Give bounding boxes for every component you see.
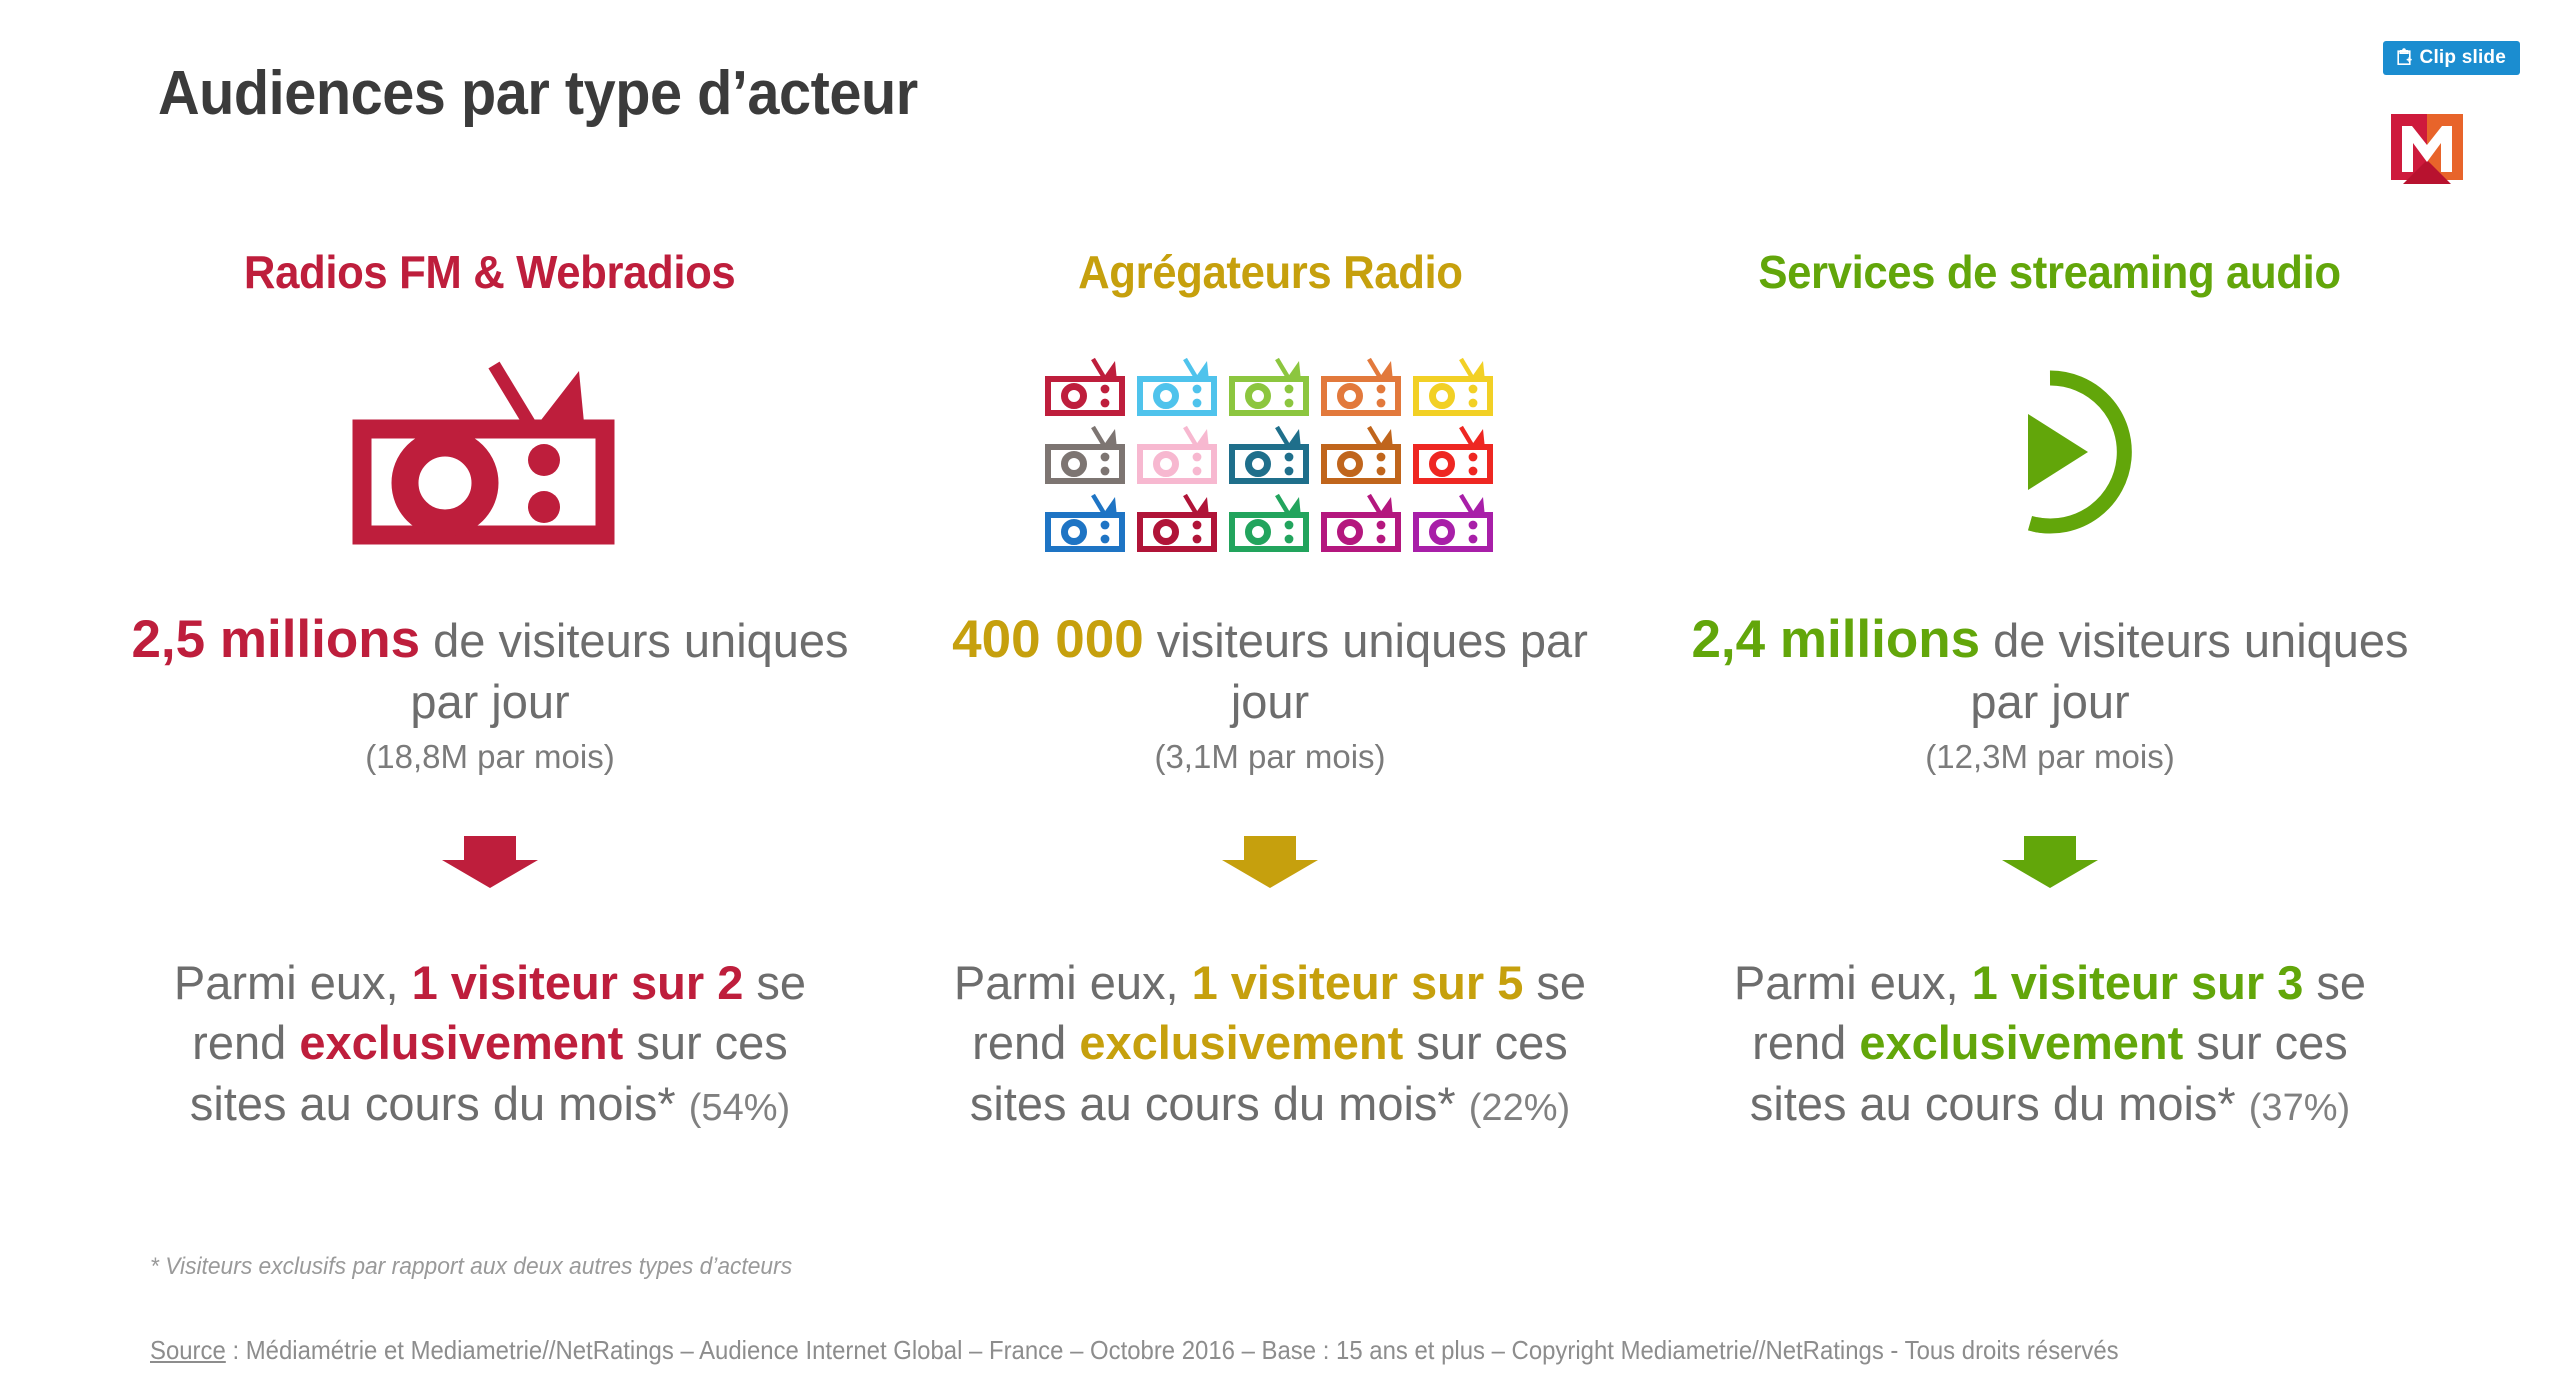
radio-grid-icon <box>1043 355 1497 555</box>
mini-radio-icon <box>1319 491 1405 555</box>
column-note: Parmi eux, 1 visiteur sur 5 se rend excl… <box>920 953 1620 1133</box>
mini-radio-icon <box>1043 355 1129 419</box>
source-text: : Médiamétrie et Mediametrie//NetRatings… <box>226 1335 2119 1365</box>
note-strong-ratio: 1 visiteur sur 2 <box>412 956 744 1009</box>
mini-radio-icon <box>1227 355 1313 419</box>
mini-radio-icon <box>1135 423 1221 487</box>
column-note: Parmi eux, 1 visiteur sur 3 se rend excl… <box>1700 953 2400 1133</box>
stat-line: 2,4 millions de visiteurs uniques par jo… <box>1690 608 2410 775</box>
column-icon <box>1043 347 1497 562</box>
mini-radio-icon <box>1043 491 1129 555</box>
mini-radio-icon <box>1319 355 1405 419</box>
clipboard-plus-icon <box>2395 48 2413 67</box>
source-line: Source : Médiamétrie et Mediametrie//Net… <box>150 1335 2119 1366</box>
stat-line: 2,5 millions de visiteurs uniques par jo… <box>130 608 850 775</box>
page-title: Audiences par type d’acteur <box>158 58 918 129</box>
column-icon <box>1960 347 2140 562</box>
note-percent: (22%) <box>1469 1087 1570 1129</box>
column-note: Parmi eux, 1 visiteur sur 2 se rend excl… <box>140 953 840 1133</box>
column-heading: Agrégateurs Radio <box>1078 245 1462 299</box>
arrow-down-icon <box>1996 831 2104 891</box>
columns-container: Radios FM & Webradios 2,5 millions de vi… <box>100 245 2440 1134</box>
note-percent: (37%) <box>2249 1087 2350 1129</box>
note-lead: Parmi eux, <box>174 956 412 1009</box>
stat-value: 2,5 millions <box>131 610 420 669</box>
stat-sub: (12,3M par mois) <box>1690 739 2410 775</box>
slide-canvas: Clip slide Audiences par type d’acteur R… <box>0 0 2553 1381</box>
note-lead: Parmi eux, <box>954 956 1192 1009</box>
column-heading: Services de streaming audio <box>1759 245 2341 299</box>
column-icon <box>348 347 633 562</box>
note-strong-exclusively: exclusivement <box>1859 1016 2183 1069</box>
stat-text: visiteurs uniques par jour <box>1144 614 1588 728</box>
mini-radio-icon <box>1135 355 1221 419</box>
column-heading: Radios FM & Webradios <box>244 245 735 299</box>
mini-radio-icon <box>1135 491 1221 555</box>
stat-text: de visiteurs uniques par jour <box>410 614 848 728</box>
source-label: Source <box>150 1335 226 1365</box>
stat-text: de visiteurs uniques par jour <box>1970 614 2408 728</box>
column-radios-fm-webradios: Radios FM & Webradios 2,5 millions de vi… <box>100 245 880 1134</box>
note-strong-ratio: 1 visiteur sur 3 <box>1972 956 2304 1009</box>
arrow-down-icon <box>436 831 544 891</box>
note-strong-exclusively: exclusivement <box>1079 1016 1403 1069</box>
column-services-streaming-audio: Services de streaming audio 2,4 millions… <box>1660 245 2440 1134</box>
mini-radio-icon <box>1411 491 1497 555</box>
clip-slide-button[interactable]: Clip slide <box>2383 41 2520 75</box>
footnote-exclusive-visitors: * Visiteurs exclusifs par rapport aux de… <box>150 1253 792 1281</box>
stat-sub: (3,1M par mois) <box>910 739 1630 775</box>
mediametrie-m-logo <box>2389 110 2465 186</box>
mini-radio-icon <box>1319 423 1405 487</box>
note-strong-exclusively: exclusivement <box>299 1016 623 1069</box>
note-percent: (54%) <box>689 1087 790 1129</box>
mini-radio-icon <box>1411 355 1497 419</box>
play-circle-icon <box>1960 362 2140 547</box>
radio-icon <box>348 357 633 552</box>
column-agregateurs-radio: Agrégateurs Radio 400 000 visiteurs uniq… <box>880 245 1660 1134</box>
stat-sub: (18,8M par mois) <box>130 739 850 775</box>
stat-value: 400 000 <box>952 610 1144 669</box>
mini-radio-icon <box>1227 423 1313 487</box>
note-strong-ratio: 1 visiteur sur 5 <box>1192 956 1524 1009</box>
mini-radio-icon <box>1227 491 1313 555</box>
clip-slide-label: Clip slide <box>2420 48 2506 67</box>
mini-radio-icon <box>1411 423 1497 487</box>
arrow-down-icon <box>1216 831 1324 891</box>
stat-value: 2,4 millions <box>1691 610 1980 669</box>
mini-radio-icon <box>1043 423 1129 487</box>
stat-line: 400 000 visiteurs uniques par jour (3,1M… <box>910 608 1630 775</box>
note-lead: Parmi eux, <box>1734 956 1972 1009</box>
